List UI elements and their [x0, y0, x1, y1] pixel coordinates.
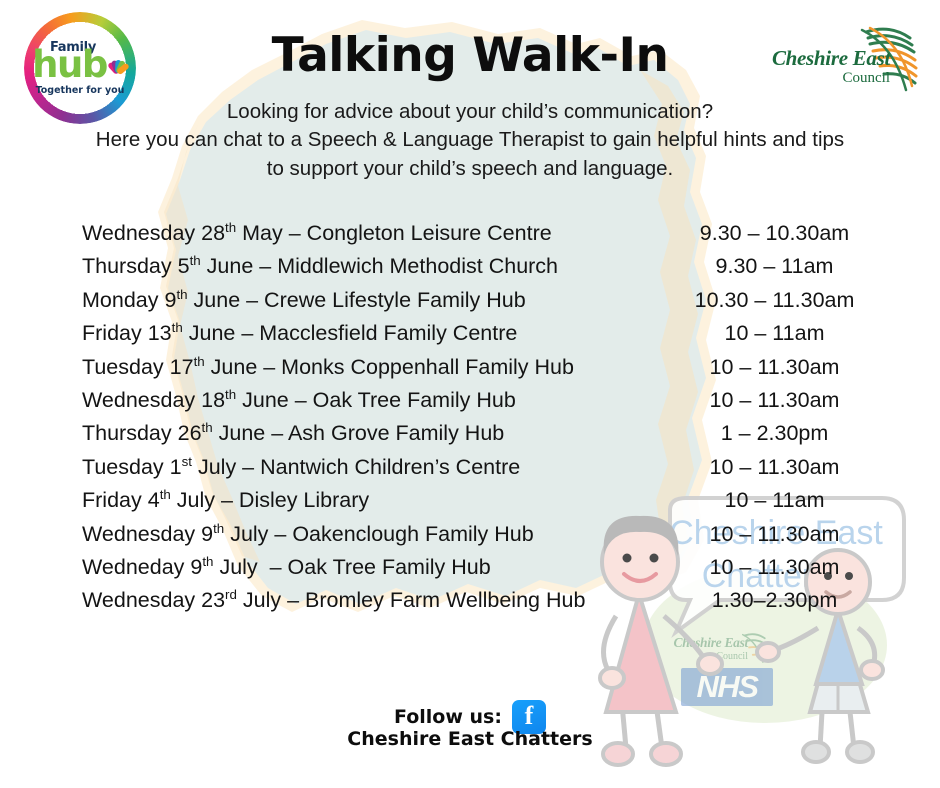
schedule-date: 28 [201, 221, 225, 245]
schedule-time: 10 – 11.30am [667, 388, 882, 413]
schedule-event: Wednesday 18th June – Oak Tree Family Hu… [82, 388, 667, 413]
schedule-row: Wednesday 28th May – Congleton Leisure C… [82, 221, 882, 254]
schedule-venue: June – Crewe Lifestyle Family Hub [188, 288, 526, 312]
schedule-row: Tuesday 17th June – Monks Coppenhall Fam… [82, 355, 882, 388]
family-hub-wordmark-row: hub [32, 51, 128, 80]
schedule-day: Thursday [82, 254, 178, 278]
poster-canvas: Family hub Together for you [0, 0, 940, 788]
subtitle-line-2: Here you can chat to a Speech & Language… [60, 126, 880, 154]
schedule-day: Wednesday [82, 221, 201, 245]
schedule-date: 1 [170, 455, 182, 479]
schedule-time: 1.30–2.30pm [667, 588, 882, 613]
schedule-date: 23 [201, 588, 225, 612]
family-hub-logo: Family hub Together for you [18, 12, 144, 124]
schedule-ordinal: th [225, 387, 236, 402]
schedule-date: 4 [148, 488, 160, 512]
schedule-date: 17 [170, 355, 194, 379]
schedule-date: 9 [201, 522, 213, 546]
schedule-time: 10 – 11.30am [667, 522, 882, 547]
schedule-row: Thursday 5th June – Middlewich Methodist… [82, 254, 882, 287]
schedule-ordinal: th [160, 487, 171, 502]
schedule-venue: June – Monks Coppenhall Family Hub [205, 355, 574, 379]
schedule-venue: July – Nantwich Children’s Centre [192, 455, 520, 479]
council-name: Cheshire East [770, 48, 890, 69]
family-hub-logo-inner: Family hub Together for you [24, 12, 136, 124]
schedule-ordinal: th [190, 253, 201, 268]
schedule-time: 10 – 11am [667, 488, 882, 513]
schedule-day: Friday [82, 321, 148, 345]
schedule-venue: June – Middlewich Methodist Church [201, 254, 558, 278]
schedule-time: 10.30 – 11.30am [667, 288, 882, 313]
watermark-council-sub: Council [672, 651, 748, 662]
schedule-ordinal: th [176, 287, 187, 302]
schedule-venue: June – Macclesfield Family Centre [183, 321, 518, 345]
family-hub-tagline: Together for you [36, 85, 125, 96]
family-hub-fan-icon [108, 51, 128, 77]
schedule-time: 9.30 – 10.30am [667, 221, 882, 246]
schedule-venue: May – Congleton Leisure Centre [236, 221, 552, 245]
schedule-event: Thursday 26th June – Ash Grove Family Hu… [82, 421, 667, 446]
schedule-row: Monday 9th June – Crewe Lifestyle Family… [82, 288, 882, 321]
schedule-event: Wednesday 28th May – Congleton Leisure C… [82, 221, 667, 246]
cheshire-east-council-logo: Cheshire East Council [770, 20, 922, 98]
social-handle: Cheshire East Chatters [0, 728, 940, 750]
schedule-ordinal: th [213, 520, 224, 535]
schedule-venue: July – Oak Tree Family Hub [213, 555, 490, 579]
schedule-ordinal: th [202, 554, 213, 569]
schedule-row: Wednesday 18th June – Oak Tree Family Hu… [82, 388, 882, 421]
schedule-row: Wednesday 9th July – Oakenclough Family … [82, 522, 882, 555]
schedule-day: Wednesday [82, 388, 201, 412]
schedule-day: Friday [82, 488, 148, 512]
schedule-date: 18 [201, 388, 225, 412]
council-logo-watermark: Cheshire East Council [672, 634, 772, 670]
schedule-day: Tuesday [82, 455, 170, 479]
schedule-venue: July – Oakenclough Family Hub [224, 522, 534, 546]
schedule-day: Wedneday [82, 555, 190, 579]
schedule-date: 9 [164, 288, 176, 312]
schedule-venue: June – Ash Grove Family Hub [213, 421, 505, 445]
schedule-date: 26 [178, 421, 202, 445]
schedule-row: Wedneday 9th July – Oak Tree Family Hub1… [82, 555, 882, 588]
schedule-time: 10 – 11.30am [667, 555, 882, 580]
schedule-row: Friday 13th June – Macclesfield Family C… [82, 321, 882, 354]
schedule-time: 10 – 11.30am [667, 455, 882, 480]
schedule-row: Wednesday 23rd July – Bromley Farm Wellb… [82, 588, 882, 621]
schedule-event: Wednesday 23rd July – Bromley Farm Wellb… [82, 588, 667, 613]
council-subname: Council [770, 70, 890, 87]
schedule-event: Wednesday 9th July – Oakenclough Family … [82, 522, 667, 547]
schedule-ordinal: st [182, 454, 192, 469]
schedule-event: Thursday 5th June – Middlewich Methodist… [82, 254, 667, 279]
schedule-date: 13 [148, 321, 172, 345]
schedule-day: Wednesday [82, 522, 201, 546]
schedule-event: Friday 13th June – Macclesfield Family C… [82, 321, 667, 346]
schedule-time: 10 – 11am [667, 321, 882, 346]
schedule-event: Tuesday 1st July – Nantwich Children’s C… [82, 455, 667, 480]
schedule-ordinal: th [225, 220, 236, 235]
family-hub-word-hub: hub [32, 51, 107, 80]
schedule-ordinal: th [172, 320, 183, 335]
page-subtitle: Looking for advice about your child’s co… [60, 98, 880, 183]
schedule-venue: June – Oak Tree Family Hub [236, 388, 516, 412]
schedule-venue: July – Disley Library [171, 488, 369, 512]
schedule-time: 1 – 2.30pm [667, 421, 882, 446]
schedule-ordinal: rd [225, 587, 237, 602]
schedule-event: Tuesday 17th June – Monks Coppenhall Fam… [82, 355, 667, 380]
schedule-day: Wednesday [82, 588, 201, 612]
schedule-event: Friday 4th July – Disley Library [82, 488, 667, 513]
schedule-time: 9.30 – 11am [667, 254, 882, 279]
schedule-ordinal: th [194, 353, 205, 368]
schedule-list: Wednesday 28th May – Congleton Leisure C… [82, 221, 882, 622]
watermark-council-name: Cheshire East [672, 636, 748, 650]
schedule-date: 9 [190, 555, 202, 579]
follow-us-label: Follow us: [394, 706, 502, 728]
schedule-row: Tuesday 1st July – Nantwich Children’s C… [82, 455, 882, 488]
council-wordmark: Cheshire East Council [770, 48, 890, 87]
schedule-row: Thursday 26th June – Ash Grove Family Hu… [82, 421, 882, 454]
schedule-row: Friday 4th July – Disley Library10 – 11a… [82, 488, 882, 521]
schedule-time: 10 – 11.30am [667, 355, 882, 380]
schedule-event: Wedneday 9th July – Oak Tree Family Hub [82, 555, 667, 580]
subtitle-line-3: to support your child’s speech and langu… [60, 155, 880, 183]
schedule-day: Tuesday [82, 355, 170, 379]
schedule-ordinal: th [202, 420, 213, 435]
schedule-day: Monday [82, 288, 164, 312]
subtitle-line-1: Looking for advice about your child’s co… [60, 98, 880, 126]
schedule-date: 5 [178, 254, 190, 278]
schedule-venue: July – Bromley Farm Wellbeing Hub [237, 588, 586, 612]
schedule-day: Thursday [82, 421, 178, 445]
schedule-event: Monday 9th June – Crewe Lifestyle Family… [82, 288, 667, 313]
